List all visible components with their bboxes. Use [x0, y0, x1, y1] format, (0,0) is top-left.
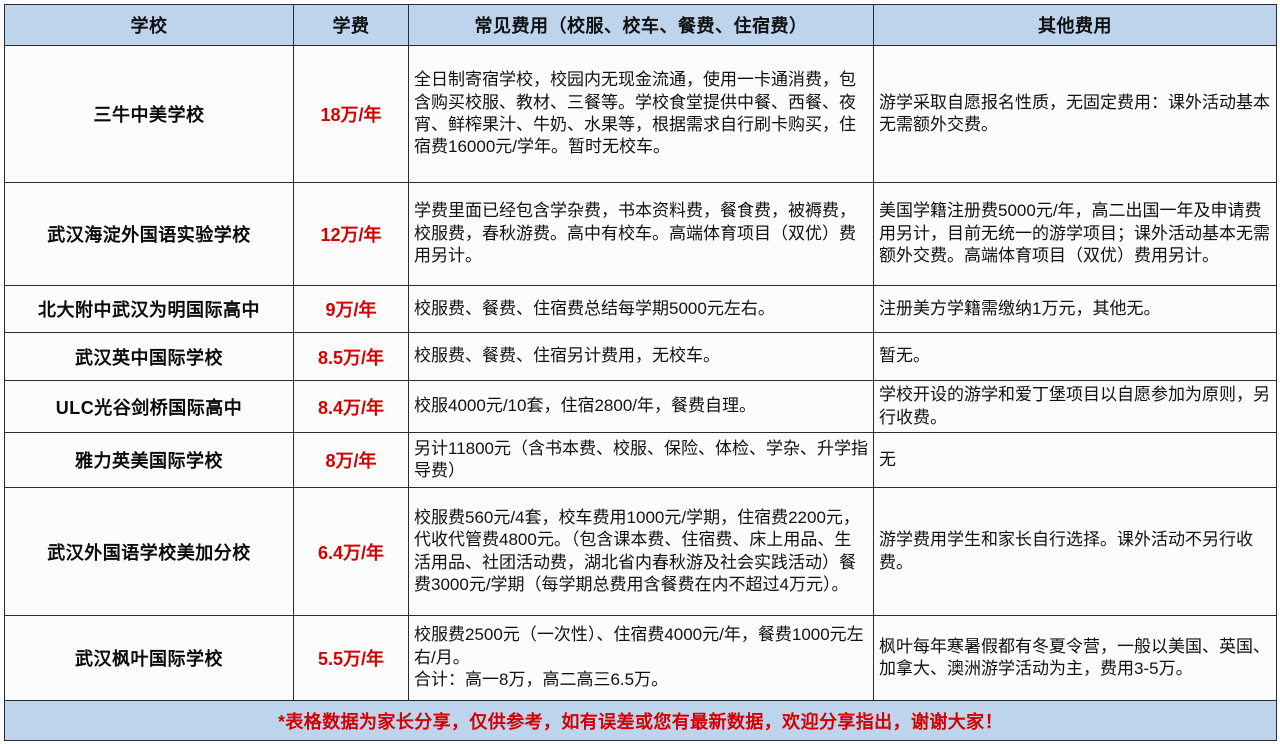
cell-tuition: 6.4万/年 [294, 488, 409, 616]
table-footnote-row: *表格数据为家长分享，仅供参考，如有误差或您有最新数据，欢迎分享指出，谢谢大家！ [5, 701, 1277, 741]
table-row: 三牛中美学校 18万/年 全日制寄宿学校，校园内无现金流通，使用一卡通消费，包含… [5, 46, 1277, 183]
cell-other-fees: 暂无。 [874, 333, 1277, 381]
cell-school: 雅力英美国际学校 [5, 433, 294, 488]
header-tuition: 学费 [294, 5, 409, 46]
table-row: 武汉外国语学校美加分校 6.4万/年 校服费560元/4套，校车费用1000元/… [5, 488, 1277, 616]
cell-tuition: 12万/年 [294, 183, 409, 286]
header-other-fees: 其他费用 [874, 5, 1277, 46]
cell-common-fees: 校服费、餐费、住宿另计费用，无校车。 [409, 333, 874, 381]
table-row: 武汉英中国际学校 8.5万/年 校服费、餐费、住宿另计费用，无校车。 暂无。 [5, 333, 1277, 381]
cell-school: 武汉英中国际学校 [5, 333, 294, 381]
header-row: 学校 学费 常见费用（校服、校车、餐费、住宿费） 其他费用 [5, 5, 1277, 46]
table-row: 北大附中武汉为明国际高中 9万/年 校服费、餐费、住宿费总结每学期5000元左右… [5, 286, 1277, 333]
cell-common-fees: 全日制寄宿学校，校园内无现金流通，使用一卡通消费，包含购买校服、教材、三餐等。学… [409, 46, 874, 183]
cell-tuition: 8.4万/年 [294, 381, 409, 433]
cell-tuition: 5.5万/年 [294, 616, 409, 701]
table-row: ULC光谷剑桥国际高中 8.4万/年 校服4000元/10套，住宿2800/年，… [5, 381, 1277, 433]
cell-common-fees: 另计11800元（含书本费、校服、保险、体检、学杂、升学指导费） [409, 433, 874, 488]
cell-common-fees: 校服4000元/10套，住宿2800/年，餐费自理。 [409, 381, 874, 433]
cell-common-fees: 校服费560元/4套，校车费用1000元/学期，住宿费2200元，代收代管费48… [409, 488, 874, 616]
school-fee-table: 学校 学费 常见费用（校服、校车、餐费、住宿费） 其他费用 三牛中美学校 18万… [4, 4, 1277, 741]
cell-other-fees: 无 [874, 433, 1277, 488]
spreadsheet-canvas: 学校 学费 常见费用（校服、校车、餐费、住宿费） 其他费用 三牛中美学校 18万… [0, 0, 1280, 744]
cell-school: 武汉外国语学校美加分校 [5, 488, 294, 616]
cell-other-fees: 学校开设的游学和爱丁堡项目以自愿参加为原则，另行收费。 [874, 381, 1277, 433]
cell-school: ULC光谷剑桥国际高中 [5, 381, 294, 433]
table-header: 学校 学费 常见费用（校服、校车、餐费、住宿费） 其他费用 [5, 5, 1277, 46]
cell-other-fees: 游学采取自愿报名性质，无固定费用：课外活动基本无需额外交费。 [874, 46, 1277, 183]
cell-common-fees: 校服费、餐费、住宿费总结每学期5000元左右。 [409, 286, 874, 333]
cell-other-fees: 注册美方学籍需缴纳1万元，其他无。 [874, 286, 1277, 333]
cell-school: 武汉枫叶国际学校 [5, 616, 294, 701]
cell-other-fees: 美国学籍注册费5000元/年，高二出国一年及申请费用另计，目前无统一的游学项目；… [874, 183, 1277, 286]
table-row: 雅力英美国际学校 8万/年 另计11800元（含书本费、校服、保险、体检、学杂、… [5, 433, 1277, 488]
cell-common-fees: 校服费2500元（一次性）、住宿费4000元/年，餐费1000元左右/月。 合计… [409, 616, 874, 701]
cell-school: 北大附中武汉为明国际高中 [5, 286, 294, 333]
cell-tuition: 8.5万/年 [294, 333, 409, 381]
table-row: 武汉枫叶国际学校 5.5万/年 校服费2500元（一次性）、住宿费4000元/年… [5, 616, 1277, 701]
header-common-fees: 常见费用（校服、校车、餐费、住宿费） [409, 5, 874, 46]
cell-tuition: 18万/年 [294, 46, 409, 183]
header-school: 学校 [5, 5, 294, 46]
cell-other-fees: 枫叶每年寒暑假都有冬夏令营，一般以美国、英国、加拿大、澳洲游学活动为主，费用3-… [874, 616, 1277, 701]
cell-school: 武汉海淀外国语实验学校 [5, 183, 294, 286]
cell-tuition: 9万/年 [294, 286, 409, 333]
cell-school: 三牛中美学校 [5, 46, 294, 183]
footnote-text: *表格数据为家长分享，仅供参考，如有误差或您有最新数据，欢迎分享指出，谢谢大家！ [5, 701, 1277, 741]
cell-other-fees: 游学费用学生和家长自行选择。课外活动不另行收费。 [874, 488, 1277, 616]
cell-tuition: 8万/年 [294, 433, 409, 488]
cell-common-fees: 学费里面已经包含学杂费，书本资料费，餐食费，被褥费，校服费，春秋游费。高中有校车… [409, 183, 874, 286]
table-body: 三牛中美学校 18万/年 全日制寄宿学校，校园内无现金流通，使用一卡通消费，包含… [5, 46, 1277, 741]
table-row: 武汉海淀外国语实验学校 12万/年 学费里面已经包含学杂费，书本资料费，餐食费，… [5, 183, 1277, 286]
